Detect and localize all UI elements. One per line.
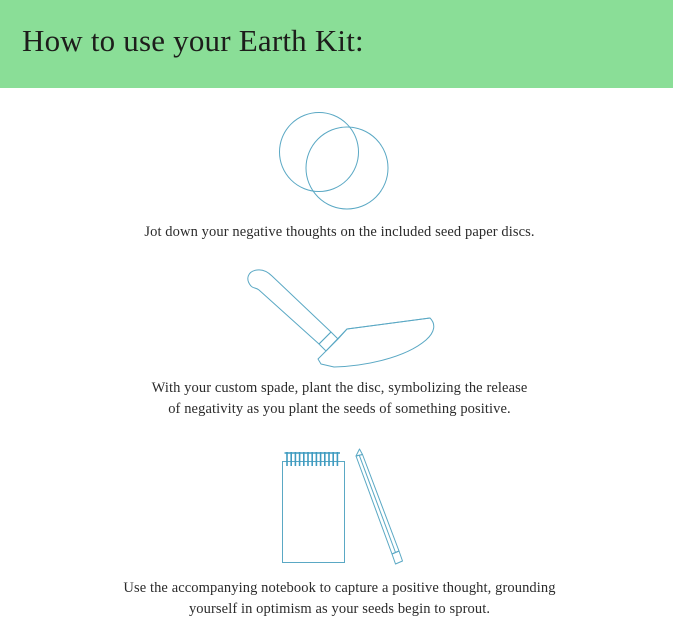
step-1-caption: Jot down your negative thoughts on the i…: [60, 222, 620, 243]
step-2-illustration: [0, 268, 679, 378]
instruction-page: How to use your Earth Kit: Jot down your…: [0, 0, 679, 635]
step-3-illustration: [0, 448, 679, 578]
spiral-binding: [284, 452, 340, 466]
step-2: With your custom spade, plant the disc, …: [0, 268, 679, 420]
step-2-caption-line-2: of negativity as you plant the seeds of …: [60, 399, 620, 420]
garden-spade-icon: [235, 268, 445, 368]
step-3-caption-line-1: Use the accompanying notebook to capture…: [40, 578, 640, 599]
notebook-and-pencil-icon: [272, 448, 408, 570]
step-3-caption-line-2: yourself in optimism as your seeds begin…: [40, 599, 640, 620]
step-1-illustration: [0, 104, 679, 222]
step-2-caption-line-1: With your custom spade, plant the disc, …: [60, 378, 620, 399]
step-1: Jot down your negative thoughts on the i…: [0, 104, 679, 243]
page-title: How to use your Earth Kit:: [22, 23, 364, 59]
step-2-caption: With your custom spade, plant the disc, …: [60, 378, 620, 420]
seed-paper-discs-icon: [270, 104, 410, 216]
header-band: How to use your Earth Kit:: [0, 0, 673, 88]
step-3: Use the accompanying notebook to capture…: [0, 448, 679, 620]
pencil: [356, 449, 403, 564]
step-3-caption: Use the accompanying notebook to capture…: [40, 578, 640, 620]
step-1-caption-line-1: Jot down your negative thoughts on the i…: [60, 222, 620, 243]
